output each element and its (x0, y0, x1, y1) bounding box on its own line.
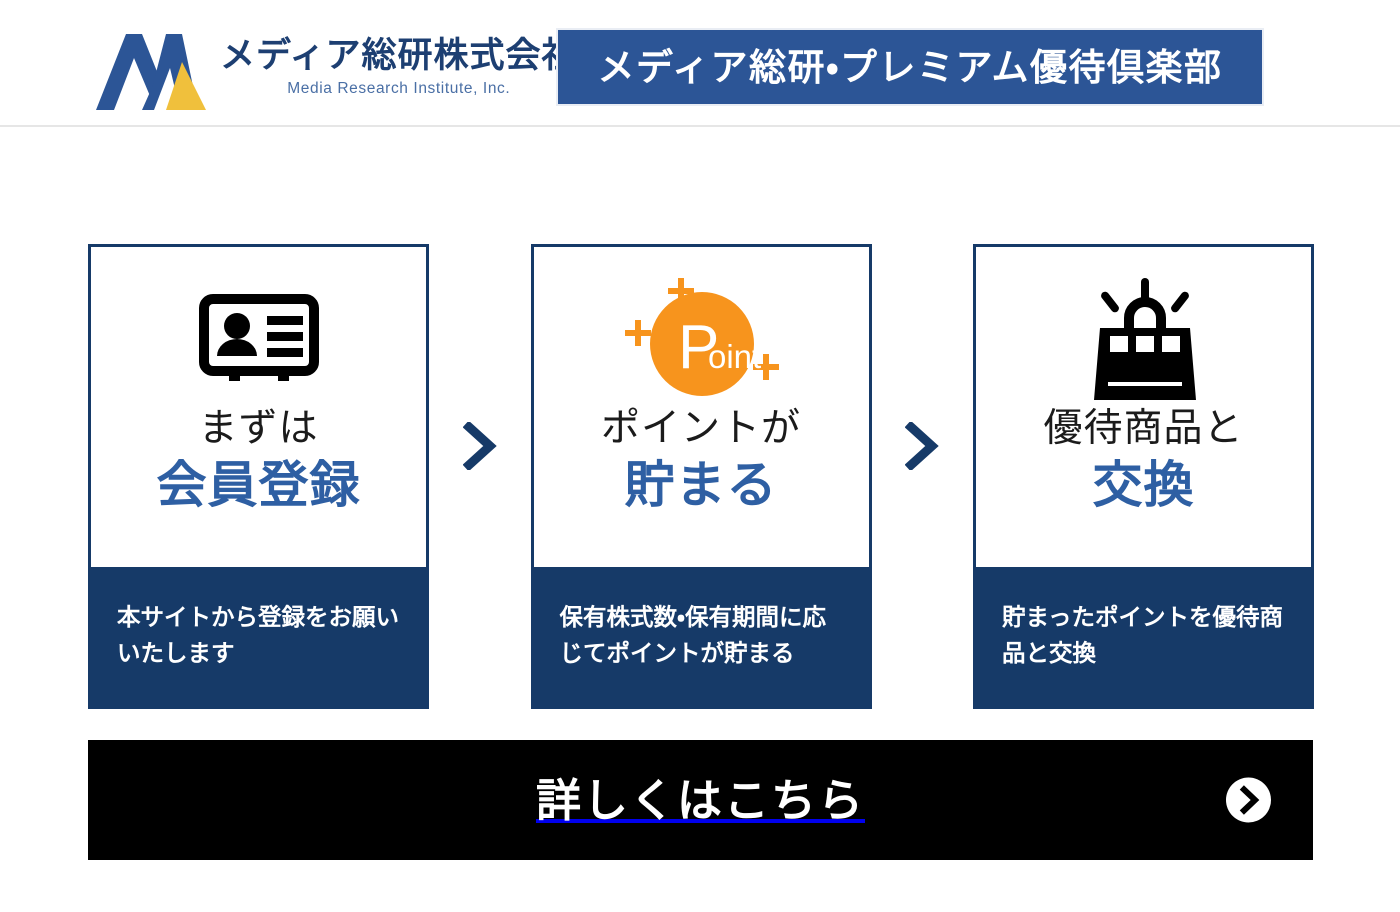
premium-club-banner[interactable]: メディア総研・プレミアム優待倶楽部 (556, 28, 1264, 106)
site-header: メディア総研株式会社 Media Research Institute, Inc… (0, 0, 1400, 127)
step-title-top: ポイントが (601, 406, 801, 452)
premium-club-banner-label: メディア総研・プレミアム優待倶楽部 (598, 49, 1223, 86)
step-title: 優待商品と 交換 (1043, 406, 1243, 515)
step-card-registration[interactable]: まずは 会員登録 本サイトから登録をお願いいたします (88, 244, 429, 709)
id-card-icon (199, 277, 319, 402)
step-separator-2 (872, 244, 974, 470)
steps-section: まずは 会員登録 本サイトから登録をお願いいたします (88, 244, 1314, 709)
shopping-bag-icon (1084, 277, 1204, 402)
step-title-top: まずは (157, 406, 361, 452)
step-body: 優待商品と 交換 (976, 247, 1311, 567)
brand-logo[interactable]: メディア総研株式会社 Media Research Institute, Inc… (96, 18, 578, 114)
media-research-m-mark-icon (96, 18, 206, 114)
details-cta-button[interactable]: 詳しくはこちら (88, 740, 1313, 860)
step-separator-1 (429, 244, 531, 470)
step-card-earn-points[interactable]: P oint ポイントが 貯まる 保有株式数・保有期間に応じてポイントが貯まる (531, 244, 872, 709)
step-body: まずは 会員登録 (91, 247, 426, 567)
step-footer: 貯まったポイントを優待商品と交換 (976, 567, 1311, 706)
brand-name-ja: メディア総研株式会社 (220, 36, 578, 76)
details-cta-label: 詳しくはこちら (536, 778, 865, 823)
circle-chevron-right-icon[interactable] (1226, 778, 1271, 823)
step-title-top: 優待商品と (1043, 406, 1243, 452)
brand-text: メディア総研株式会社 Media Research Institute, Inc… (220, 32, 578, 100)
step-title: ポイントが 貯まる (601, 406, 801, 515)
step-title-main: 会員登録 (157, 456, 361, 515)
chevron-right-icon (905, 422, 939, 470)
step-card-exchange[interactable]: 優待商品と 交換 貯まったポイントを優待商品と交換 (973, 244, 1314, 709)
step-title-main: 貯まる (601, 456, 801, 515)
step-title-main: 交換 (1043, 456, 1243, 515)
point-badge-icon: P oint (616, 277, 786, 402)
step-title: まずは 会員登録 (157, 406, 361, 515)
brand-name-en: Media Research Institute, Inc. (220, 78, 578, 100)
step-body: P oint ポイントが 貯まる (534, 247, 869, 567)
step-footer: 保有株式数・保有期間に応じてポイントが貯まる (534, 567, 869, 706)
svg-text:oint: oint (708, 338, 761, 375)
chevron-right-icon (463, 422, 497, 470)
step-footer: 本サイトから登録をお願いいたします (91, 567, 426, 706)
